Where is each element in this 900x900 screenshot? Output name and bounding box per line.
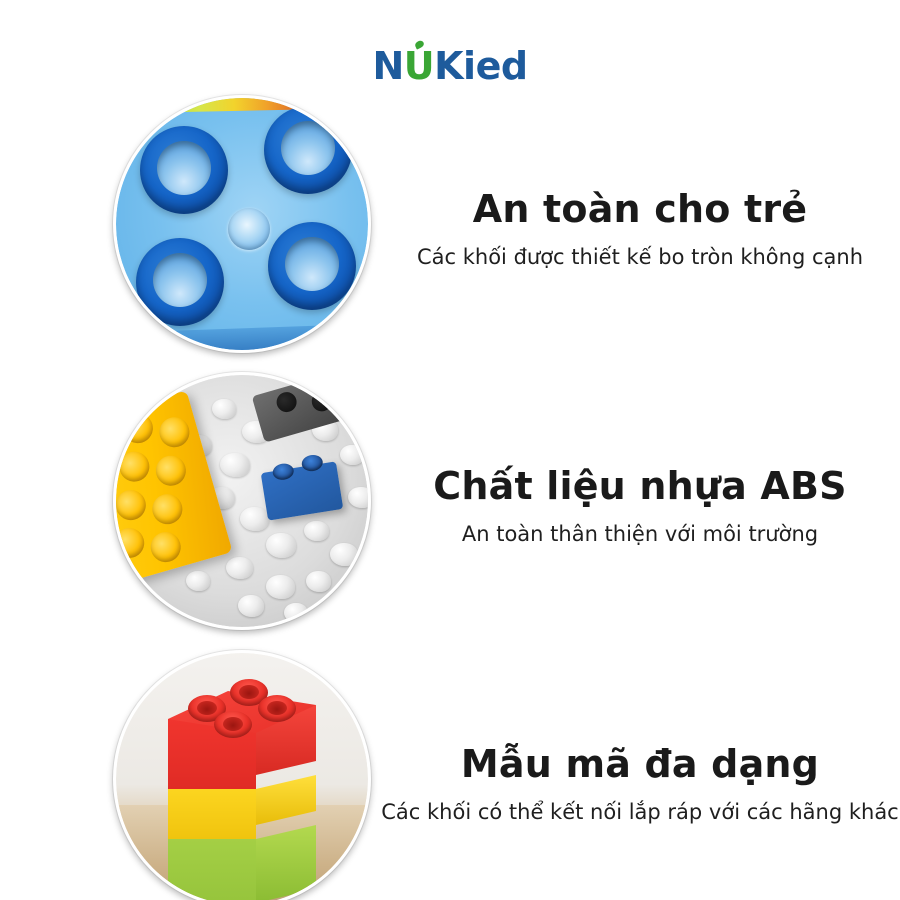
feature-subheading: Các khối có thể kết nối lắp ráp với các … — [381, 797, 898, 827]
feature-heading: Chất liệu nhựa ABS — [433, 461, 846, 511]
logo-letter-u-group: U — [404, 44, 434, 88]
feature-heading: Mẫu mã đa dạng — [461, 739, 819, 789]
feature-heading: An toàn cho trẻ — [473, 184, 807, 234]
logo-letters-kied: Kied — [434, 44, 527, 88]
green-brick — [168, 839, 316, 900]
feature-row-safety: An toàn cho trẻ Các khối được thiết kế b… — [0, 90, 900, 365]
brick-front-face — [168, 789, 256, 839]
feature-subheading: An toàn thân thiện với môi trường — [462, 519, 818, 549]
feature-photo-safety — [113, 95, 371, 353]
feature-subheading: Các khối được thiết kế bo tròn không cạn… — [417, 242, 863, 272]
yellow-brick — [168, 789, 316, 839]
brick-tube-socket — [140, 126, 228, 214]
feature-photo-variety — [113, 650, 371, 900]
logo-letter-n: N — [372, 44, 403, 88]
brand-logo: NUKied — [0, 44, 900, 88]
product-feature-infographic: NUKied An toàn cho trẻ Các khối được thi… — [0, 0, 900, 900]
logo-letter-u: U — [404, 44, 434, 88]
feature-text-variety: Mẫu mã đa dạng Các khối có thể kết nối l… — [390, 645, 890, 900]
feature-text-safety: An toàn cho trẻ Các khối được thiết kế b… — [390, 90, 890, 365]
feature-photo-material — [113, 372, 371, 630]
feature-row-variety: Mẫu mã đa dạng Các khối có thể kết nối l… — [0, 645, 900, 900]
brick-tube-socket — [268, 222, 356, 310]
brick-front-face — [168, 839, 256, 900]
brick-stud — [214, 711, 252, 738]
brick-center-nub — [228, 208, 270, 250]
brick-tube-socket — [264, 106, 352, 194]
feature-row-material: Chất liệu nhựa ABS An toàn thân thiện vớ… — [0, 367, 900, 642]
feature-text-material: Chất liệu nhựa ABS An toàn thân thiện vớ… — [390, 367, 890, 642]
brick-stud — [258, 695, 296, 722]
photo-clip — [116, 375, 368, 627]
photo-clip — [116, 653, 368, 900]
brick-tube-socket — [136, 238, 224, 326]
photo-clip — [116, 98, 368, 350]
stacked-bricks — [168, 681, 316, 896]
